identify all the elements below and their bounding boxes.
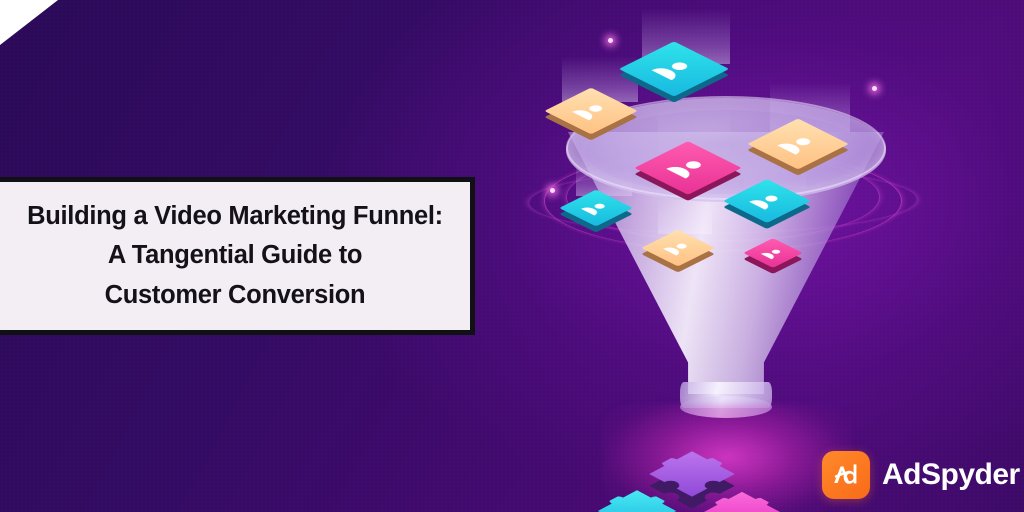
puzzle-piece-pink bbox=[710, 480, 774, 512]
marketing-funnel-illustration bbox=[520, 0, 940, 512]
user-avatar-icon bbox=[659, 153, 717, 182]
user-tile-pink bbox=[650, 130, 726, 206]
user-avatar-icon bbox=[576, 198, 616, 218]
tile-face bbox=[641, 230, 715, 267]
puzzle-piece-cyan bbox=[604, 478, 670, 512]
tile-face bbox=[634, 141, 741, 195]
sparkle-icon bbox=[550, 188, 555, 193]
sparkle-icon bbox=[872, 86, 877, 91]
user-tile-peach bbox=[558, 78, 624, 144]
page-title-line-3: Customer Conversion bbox=[105, 283, 366, 309]
user-avatar-icon bbox=[757, 245, 789, 261]
user-tile-peach bbox=[652, 222, 704, 274]
tile-face bbox=[723, 179, 811, 223]
user-tile-pink bbox=[752, 232, 794, 274]
brand-name: AdSpyder bbox=[882, 460, 1020, 490]
tile-face bbox=[544, 88, 637, 135]
user-avatar-icon bbox=[566, 98, 616, 123]
tile-face bbox=[747, 119, 849, 170]
page-title-line-2: A Tangential Guide to bbox=[108, 243, 362, 269]
user-tile-cyan bbox=[570, 182, 622, 234]
user-avatar-icon bbox=[743, 189, 790, 213]
page-title-line-1: Building a Video Marketing Funnel: bbox=[27, 204, 443, 230]
user-avatar-icon bbox=[644, 54, 704, 84]
banner-root: Building a Video Marketing Funnel: A Tan… bbox=[0, 0, 1024, 512]
title-card: Building a Video Marketing Funnel: A Tan… bbox=[0, 177, 475, 335]
user-tile-cyan bbox=[635, 30, 713, 108]
user-avatar-icon bbox=[771, 130, 826, 157]
brand-logo[interactable]: AdSpyder bbox=[822, 451, 1020, 499]
adspyder-logo-icon bbox=[822, 451, 870, 499]
puzzle-face bbox=[697, 488, 788, 512]
tile-face bbox=[619, 41, 729, 96]
user-avatar-icon bbox=[658, 238, 698, 258]
user-tile-cyan bbox=[736, 170, 798, 232]
logo-mark-glyph bbox=[829, 458, 863, 492]
tile-face bbox=[559, 190, 633, 227]
puzzle-face bbox=[590, 486, 683, 512]
sparkle-icon bbox=[608, 38, 613, 43]
corner-cut-decoration bbox=[0, 0, 58, 45]
